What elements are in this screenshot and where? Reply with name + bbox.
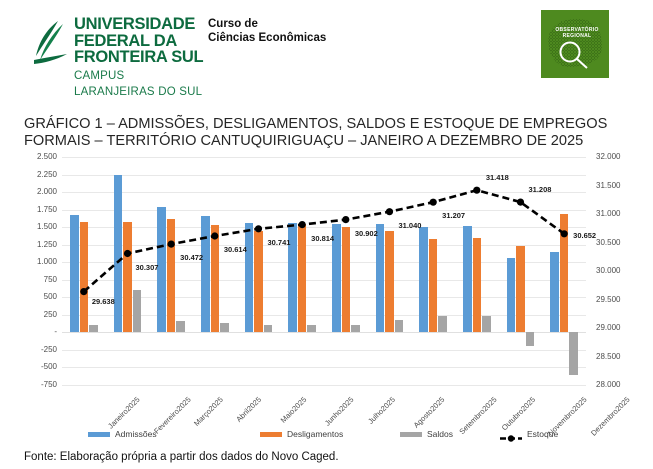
estoque-data-point <box>255 225 262 232</box>
uffs-leaf-icon <box>32 20 68 68</box>
y-axis-tick-left: 250 <box>13 311 57 319</box>
legend-item-desligamentos[interactable]: Desligamentos <box>260 430 343 439</box>
legend-swatch <box>88 432 110 437</box>
x-axis-label: Julho2025 <box>366 395 397 426</box>
estoque-point-label: 30.741 <box>268 239 291 247</box>
estoque-point-label: 30.652 <box>573 232 596 240</box>
x-axis-label: Janeiro2025 <box>106 395 142 431</box>
estoque-point-label: 30.614 <box>224 246 247 254</box>
estoque-point-label: 30.472 <box>180 254 203 262</box>
y-axis-tick-left: -750 <box>13 381 57 389</box>
course-line-1: Curso de <box>208 17 326 31</box>
y-axis-tick-left: 750 <box>13 276 57 284</box>
observatorio-regional-logo: OBSERVATÓRIO REGIONAL <box>541 10 609 78</box>
y-axis-tick-right: 30.000 <box>596 267 646 275</box>
x-axis-label: Junho2025 <box>323 395 356 428</box>
estoque-data-point <box>124 250 131 257</box>
estoque-data-point <box>168 241 175 248</box>
legend-label: Admissões <box>115 430 157 439</box>
estoque-point-label: 31.418 <box>486 174 509 182</box>
legend-item-admissões[interactable]: Admissões <box>88 430 157 439</box>
estoque-point-label: 30.814 <box>311 235 334 243</box>
y-axis-tick-left: -250 <box>13 346 57 354</box>
page-title: GRÁFICO 1 – ADMISSÕES, DESLIGAMENTOS, SA… <box>24 116 636 149</box>
legend-swatch <box>260 432 282 437</box>
estoque-data-point <box>342 216 349 223</box>
y-axis-tick-left: 2.000 <box>13 188 57 196</box>
chart-legend: AdmissõesDesligamentosSaldosEstoque <box>0 430 653 446</box>
estoque-point-label: 31.207 <box>442 212 465 220</box>
page-header: UNIVERSIDADE FEDERAL DA FRONTEIRA SUL CA… <box>0 0 653 104</box>
y-axis-tick-left: 2.500 <box>13 153 57 161</box>
plot-area: 29.63830.30730.47230.61430.74130.81430.9… <box>62 157 586 385</box>
estoque-point-label: 29.638 <box>92 298 115 306</box>
y-axis-tick-right: 31.500 <box>596 182 646 190</box>
estoque-data-point <box>473 187 480 194</box>
estoque-point-label: 31.040 <box>399 222 422 230</box>
x-axis-label: Agosto2025 <box>411 395 446 430</box>
course-line-2: Ciências Econômicas <box>208 31 326 45</box>
observatory-badge-text: OBSERVATÓRIO REGIONAL <box>553 27 601 39</box>
uffs-campus-line-1: CAMPUS <box>74 70 203 83</box>
legend-item-estoque[interactable]: Estoque <box>500 430 558 439</box>
gridline <box>62 385 586 386</box>
legend-item-saldos[interactable]: Saldos <box>400 430 453 439</box>
y-axis-tick-left: 2.250 <box>13 171 57 179</box>
estoque-data-point <box>386 208 393 215</box>
estoque-data-point <box>299 221 306 228</box>
badge-line-2: REGIONAL <box>553 33 601 39</box>
estoque-point-label: 31.208 <box>529 186 552 194</box>
estoque-data-point <box>80 288 87 295</box>
uffs-line-3: FRONTEIRA SUL <box>74 49 203 66</box>
chart-combo-admissions-dismissals-stock: 29.63830.30730.47230.61430.74130.81430.9… <box>0 150 653 430</box>
y-axis-tick-right: 30.500 <box>596 239 646 247</box>
course-name: Curso de Ciências Econômicas <box>208 17 326 45</box>
uffs-campus-line-2: LARANJEIRAS DO SUL <box>74 86 203 99</box>
legend-swatch <box>400 432 422 437</box>
x-axis-label: Maio2025 <box>278 395 308 425</box>
y-axis-tick-right: 29.500 <box>596 296 646 304</box>
legend-line-marker-icon <box>500 430 522 439</box>
y-axis-tick-left: 1.750 <box>13 206 57 214</box>
estoque-data-point <box>517 199 524 206</box>
y-axis-tick-right: 32.000 <box>596 153 646 161</box>
estoque-data-point <box>430 199 437 206</box>
x-axis-label: Outubro2025 <box>500 395 537 432</box>
legend-label: Estoque <box>527 430 558 439</box>
y-axis-tick-left: 1.000 <box>13 258 57 266</box>
y-axis-tick-left: -500 <box>13 363 57 371</box>
source-note: Fonte: Elaboração própria a partir dos d… <box>24 450 339 464</box>
y-axis-tick-left: 1.500 <box>13 223 57 231</box>
legend-label: Desligamentos <box>287 430 343 439</box>
uffs-line-2: FEDERAL DA <box>74 33 203 50</box>
uffs-line-1: UNIVERSIDADE <box>74 16 203 33</box>
estoque-point-label: 30.902 <box>355 230 378 238</box>
y-axis-tick-left: 1.250 <box>13 241 57 249</box>
uffs-logo: UNIVERSIDADE FEDERAL DA FRONTEIRA SUL CA… <box>32 16 203 99</box>
y-axis-tick-right: 29.000 <box>596 324 646 332</box>
y-axis-tick-right: 28.000 <box>596 381 646 389</box>
y-axis-tick-right: 28.500 <box>596 353 646 361</box>
estoque-point-label: 30.307 <box>136 264 159 272</box>
estoque-data-point <box>211 232 218 239</box>
y-axis-tick-left: 500 <box>13 293 57 301</box>
x-axis-label: Abril2025 <box>234 395 263 424</box>
y-axis-tick-left: - <box>13 328 57 336</box>
y-axis-tick-right: 31.000 <box>596 210 646 218</box>
estoque-data-point <box>561 230 568 237</box>
x-axis-label: Março2025 <box>192 395 225 428</box>
magnifier-icon <box>557 40 591 70</box>
uffs-wordmark: UNIVERSIDADE FEDERAL DA FRONTEIRA SUL CA… <box>74 16 203 99</box>
legend-label: Saldos <box>427 430 453 439</box>
